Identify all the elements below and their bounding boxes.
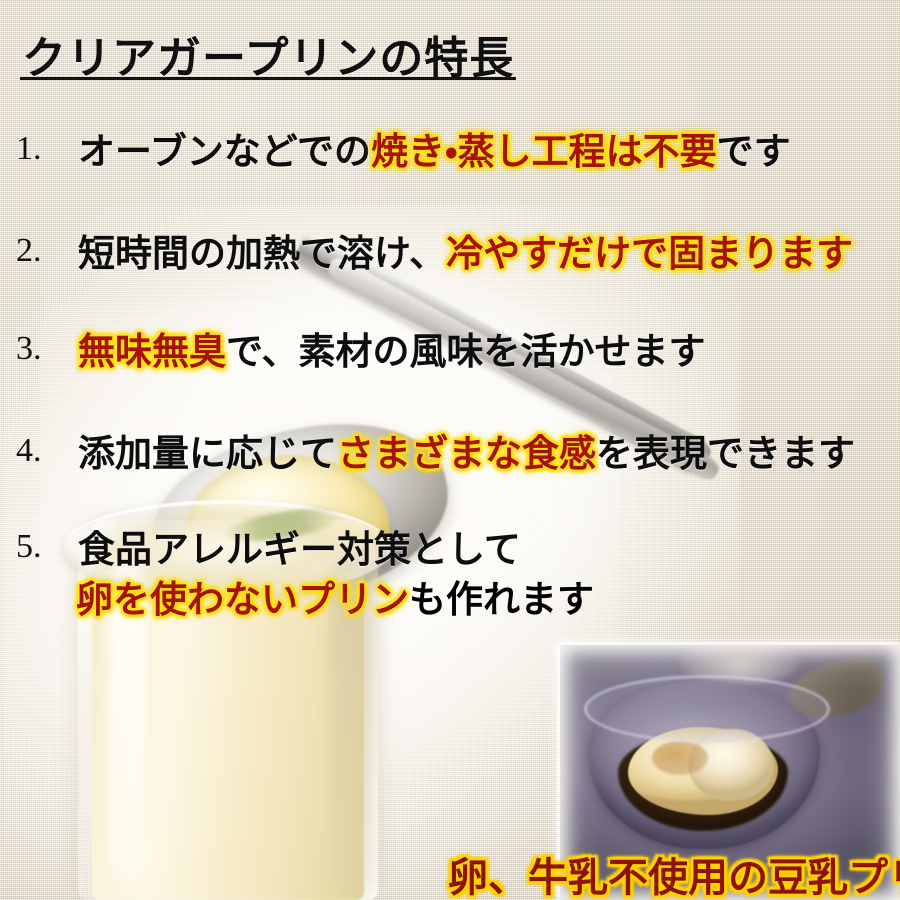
feature-item-2: 2. 短時間の加熱で溶け、冷やすだけで固まります bbox=[14, 232, 853, 277]
feature-item-3: 3. 無味無臭で、素材の風味を活かせます bbox=[14, 330, 706, 375]
feature-item-4: 4. 添加量に応じてさまざまな食感を表現できます bbox=[14, 432, 855, 477]
feature-5-line2-segment-2: も作れます bbox=[409, 580, 594, 621]
feature-1-segment-2-highlight: 焼き・蒸し工程は不要 bbox=[371, 132, 717, 173]
feature-4-segment-3: を表現できます bbox=[596, 434, 855, 475]
title-underline bbox=[20, 77, 516, 80]
feature-3-segment-2: で、素材の風味を活かせます bbox=[226, 332, 706, 373]
inset-photo-caption: 卵、牛乳不使用の豆乳プリン bbox=[448, 845, 900, 900]
feature-text-3: 無味無臭で、素材の風味を活かせます bbox=[78, 330, 706, 375]
feature-text-1: オーブンなどでの焼き・蒸し工程は不要です bbox=[78, 130, 791, 175]
product-feature-poster: クリアガープリンの特長 1. オーブンなどでの焼き・蒸し工程は不要です 2. 短… bbox=[0, 0, 900, 900]
feature-5-segment-1: 食品アレルギー対策として bbox=[78, 530, 521, 571]
feature-number-3: 3. bbox=[14, 330, 78, 368]
feature-2-segment-1: 短時間の加熱で溶け、 bbox=[78, 234, 446, 275]
feature-4-segment-2-highlight: さまざまな食感 bbox=[337, 434, 596, 475]
feature-number-4: 4. bbox=[14, 432, 78, 470]
feature-5-line2-segment-1-highlight: 卵を使わないプリン bbox=[76, 580, 409, 621]
feature-text-5-line-2: 卵を使わないプリンも作れます bbox=[76, 578, 594, 623]
feature-number-2: 2. bbox=[14, 232, 78, 270]
feature-number-1: 1. bbox=[14, 130, 78, 168]
feature-item-1: 1. オーブンなどでの焼き・蒸し工程は不要です bbox=[14, 130, 791, 175]
feature-item-5: 5. 食品アレルギー対策として bbox=[14, 528, 521, 573]
feature-1-segment-3: です bbox=[717, 132, 791, 173]
feature-text-2: 短時間の加熱で溶け、冷やすだけで固まります bbox=[78, 232, 853, 277]
feature-text-4: 添加量に応じてさまざまな食感を表現できます bbox=[78, 432, 855, 477]
feature-4-segment-1: 添加量に応じて bbox=[78, 434, 337, 475]
feature-2-segment-2-highlight: 冷やすだけで固まります bbox=[446, 234, 853, 275]
feature-1-segment-1: オーブンなどでの bbox=[78, 132, 371, 173]
feature-3-segment-1-highlight: 無味無臭 bbox=[78, 332, 226, 373]
feature-number-5: 5. bbox=[14, 528, 78, 566]
text-layer: クリアガープリンの特長 1. オーブンなどでの焼き・蒸し工程は不要です 2. 短… bbox=[0, 0, 900, 900]
feature-text-5: 食品アレルギー対策として bbox=[78, 528, 521, 573]
